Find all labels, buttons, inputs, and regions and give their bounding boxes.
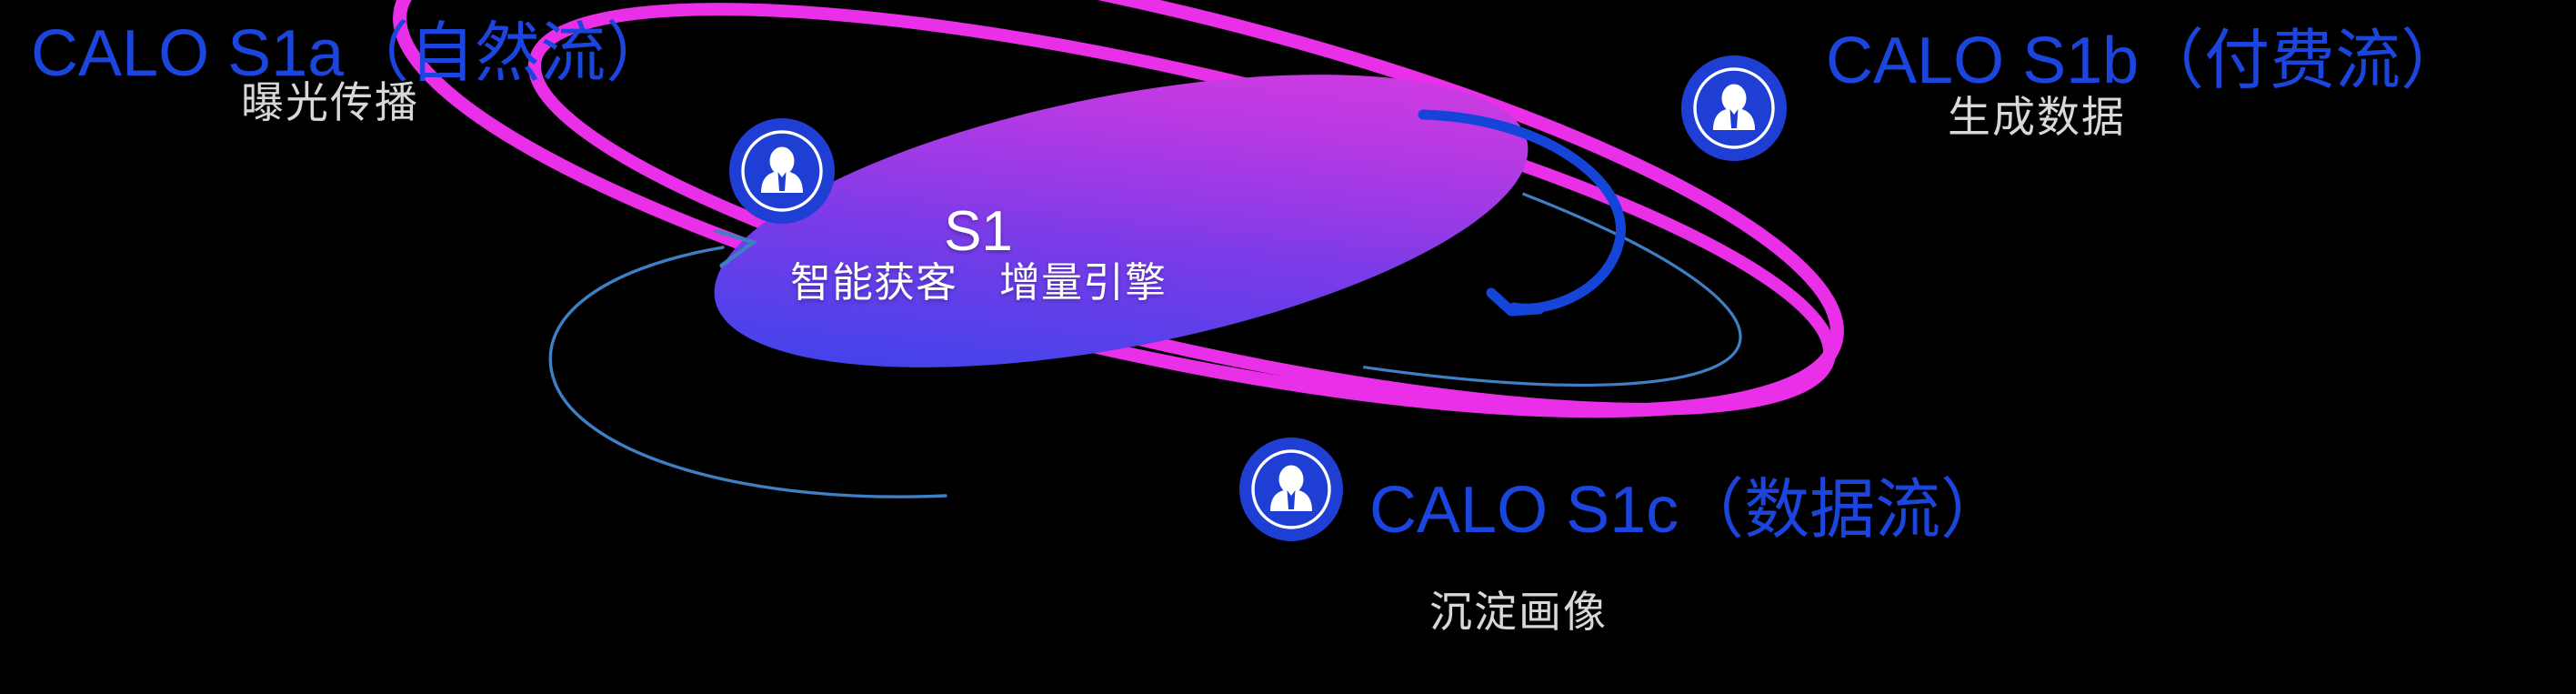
badge-s1c[interactable] bbox=[1239, 438, 1343, 541]
diagram-canvas: CALO S1a（自然流） 曝光传播 CALO S1b（付费流） 生成数据 CA… bbox=[0, 0, 2576, 694]
core-title: S1 bbox=[760, 202, 1197, 261]
core-subtitle: 智能获客 增量引擎 bbox=[760, 261, 1197, 304]
node-subtitle-s1b: 生成数据 bbox=[1948, 95, 2126, 139]
node-subtitle-s1c: 沉淀画像 bbox=[1429, 589, 1608, 634]
node-title-s1c: CALO S1c（数据流） bbox=[1369, 477, 2006, 546]
node-subtitle-s1a: 曝光传播 bbox=[241, 80, 419, 125]
node-title-s1b: CALO S1b（付费流） bbox=[1826, 27, 2466, 96]
badge-s1b[interactable] bbox=[1681, 55, 1787, 161]
core-label-block: S1 智能获客 增量引擎 bbox=[760, 202, 1197, 304]
